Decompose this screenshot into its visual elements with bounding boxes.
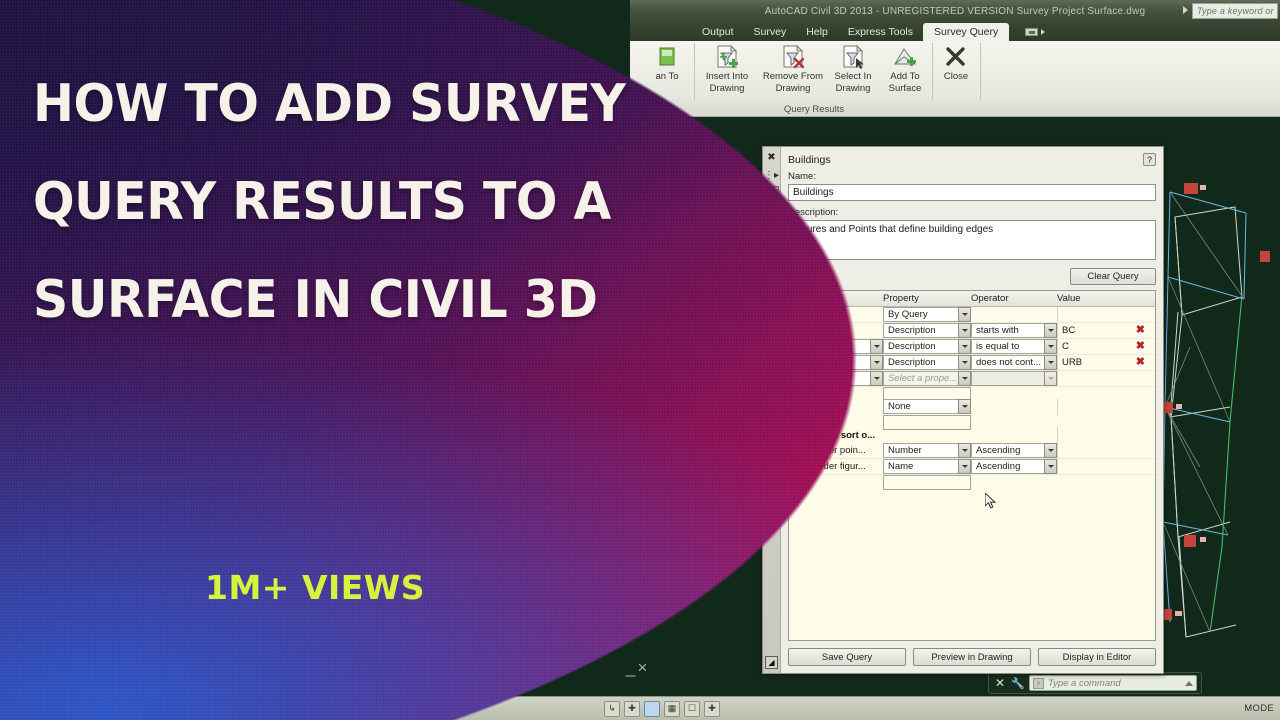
condition-property-dropdown-icon[interactable] — [958, 371, 971, 386]
description-textarea[interactable]: Figures and Points that define building … — [788, 220, 1156, 260]
condition-property-dropdown-icon[interactable] — [958, 339, 971, 354]
operator-cell-empty — [971, 427, 1057, 443]
condition-operator-disabled — [971, 371, 1044, 386]
ribbon-button-clipped[interactable]: an To — [640, 44, 694, 82]
value-cell-empty — [1057, 427, 1155, 443]
ribbon-minimize-group[interactable] — [1025, 28, 1045, 36]
insert-property-icon[interactable] — [788, 267, 808, 285]
row-label-default-sort: Default sort o... — [806, 430, 875, 441]
condition-logic-select[interactable]: AND — [821, 355, 870, 370]
palette-auto-hide-icon[interactable]: ⋮▸ — [765, 168, 779, 182]
tab-survey[interactable]: Survey — [744, 23, 797, 42]
operator-cell[interactable]: is equal to — [971, 339, 1057, 354]
select-in-drawing-button[interactable]: Select In Drawing — [826, 44, 880, 94]
preview-in-drawing-button[interactable]: Preview in Drawing — [913, 648, 1031, 666]
palette-properties-icon[interactable]: ▤ — [765, 186, 779, 200]
grid-spacer — [789, 475, 1155, 487]
value-cell[interactable]: BC ✖ — [1057, 323, 1155, 338]
expander-icon-default-sort[interactable]: - — [793, 431, 802, 440]
operator-cell — [971, 371, 1057, 386]
add-to-surface-label-1: Add To — [890, 71, 919, 82]
condition-property-dropdown-icon[interactable] — [958, 355, 971, 370]
row-label-cell: Figures — [789, 399, 883, 415]
ribbon-panel-query-results: an To gate Insert Into — [630, 41, 1280, 117]
condition-operator-dropdown-icon-disabled — [1044, 371, 1057, 386]
row-logic-cell[interactable]: AND — [789, 355, 883, 370]
row-label-order-points: Order poin... — [789, 445, 866, 456]
value-cell-empty — [1057, 459, 1155, 474]
clipped-tool-icon — [653, 44, 681, 70]
close-query-label: Close — [944, 71, 968, 82]
insert-into-drawing-icon — [713, 44, 741, 70]
table-row[interactable]: AND Select a prope... — [789, 371, 1155, 387]
row-label-order-figures: Order figur... — [789, 461, 866, 472]
delete-row-icon[interactable]: ✖ — [1136, 341, 1145, 352]
row-label-points: Points — [806, 309, 835, 320]
condition-logic-dropdown-icon[interactable] — [870, 355, 883, 370]
tab-survey-query[interactable]: Survey Query — [923, 23, 1009, 43]
add-to-surface-button[interactable]: Add To Surface — [878, 44, 932, 94]
clear-query-button[interactable]: Clear Query — [1070, 268, 1156, 285]
property-cell[interactable]: None — [883, 399, 971, 415]
value-cell[interactable]: C ✖ — [1057, 339, 1155, 354]
table-row[interactable]: Description starts with BC ✖ — [789, 323, 1155, 339]
save-query-button[interactable]: Save Query — [788, 648, 906, 666]
display-in-editor-button[interactable]: Display in Editor — [1038, 648, 1156, 666]
keyword-search-input[interactable]: Type a keyword or — [1192, 3, 1278, 19]
description-field-label: Description: — [788, 207, 1156, 218]
select-in-drawing-label-1: Select In — [835, 71, 872, 82]
palette-header: Buildings ? — [788, 153, 1156, 166]
close-x-icon — [942, 44, 970, 70]
tab-express-tools[interactable]: Express Tools — [838, 23, 923, 42]
command-expand-caret-icon[interactable] — [1185, 681, 1193, 686]
remove-from-drawing-label-1: Remove From — [763, 71, 823, 82]
query-toolbar: Clear Query — [788, 266, 1156, 286]
insert-into-drawing-button[interactable]: Insert Into Drawing — [700, 44, 754, 94]
property-cell[interactable]: Select a prope... — [883, 371, 971, 386]
table-row[interactable]: Order poin... Number Ascending — [789, 443, 1155, 459]
ribbon-panel-clipped-label: gate — [636, 104, 696, 115]
property-cell[interactable]: Description — [883, 323, 971, 338]
palette-footer: Save Query Preview in Drawing Display in… — [788, 648, 1156, 666]
property-cell[interactable]: Name — [883, 459, 971, 474]
ribbon-button-clipped-label: an To — [655, 71, 678, 82]
table-row[interactable]: - Default sort o... — [789, 427, 1155, 443]
command-wrench-icon[interactable]: 🔧 — [1011, 677, 1025, 690]
condition-logic-dropdown-icon[interactable] — [870, 339, 883, 354]
insert-into-drawing-label-1: Insert Into — [706, 71, 748, 82]
condition-property-select[interactable]: Description — [883, 355, 958, 370]
column-header-value: Value — [1057, 291, 1155, 306]
ribbon-minimize-icon[interactable] — [1025, 28, 1038, 36]
select-in-drawing-icon — [839, 44, 867, 70]
command-input-placeholder: Type a command — [1048, 678, 1121, 689]
points-mode-dropdown-icon[interactable] — [958, 307, 971, 322]
condition-value-input[interactable]: C — [1062, 341, 1069, 352]
value-cell-empty — [1057, 371, 1155, 386]
tab-output[interactable]: Output — [692, 23, 744, 42]
order-points-field-dropdown-icon[interactable] — [958, 443, 971, 458]
status-snap-icon[interactable]: ↳ — [604, 701, 620, 717]
table-row[interactable]: AND Description does not cont... — [789, 355, 1155, 371]
operator-cell-empty — [971, 399, 1057, 415]
property-cell[interactable]: Description — [883, 339, 971, 354]
insert-group-icon[interactable] — [814, 267, 834, 285]
condition-property-dropdown-icon[interactable] — [958, 323, 971, 338]
query-grid-header: Property Operator Value — [789, 291, 1155, 307]
property-cell[interactable]: By Query — [883, 307, 971, 322]
insert-into-drawing-label-2: Drawing — [710, 83, 745, 94]
figures-mode-select[interactable]: None — [883, 399, 958, 414]
expander-icon-points[interactable]: - — [793, 310, 802, 319]
ribbon-tab-strip: Output Survey Help Express Tools Survey … — [630, 22, 1280, 41]
condition-operator-select[interactable]: starts with — [971, 323, 1044, 338]
property-cell[interactable]: Description — [883, 355, 971, 370]
add-to-surface-label-2: Surface — [889, 83, 922, 94]
order-points-direction-dropdown-icon[interactable] — [1044, 443, 1057, 458]
status-mode-label: MODE — [1244, 703, 1280, 714]
remove-from-drawing-button[interactable]: Remove From Drawing — [762, 44, 824, 94]
condition-operator-dropdown-icon[interactable] — [1044, 339, 1057, 354]
operator-cell[interactable]: does not cont... — [971, 355, 1057, 370]
command-prompt-badge-icon: › — [1033, 678, 1044, 689]
status-polar-icon[interactable]: ▦ — [664, 701, 680, 717]
tab-help[interactable]: Help — [796, 23, 838, 42]
order-points-direction-select[interactable]: Ascending — [971, 443, 1044, 458]
condition-property-select[interactable]: Description — [883, 323, 958, 338]
order-points-field-select[interactable]: Number — [883, 443, 958, 458]
command-line[interactable]: ✕ 🔧 › Type a command — [988, 672, 1202, 694]
status-osnap-icon[interactable]: ☐ — [684, 701, 700, 717]
palette-title: Buildings — [788, 154, 831, 166]
row-logic-cell[interactable]: AND — [789, 371, 883, 386]
close-query-button[interactable]: Close — [934, 44, 978, 82]
table-row[interactable]: Figures None — [789, 399, 1155, 415]
condition-operator-dropdown-icon[interactable] — [1044, 355, 1057, 370]
remove-from-drawing-icon — [779, 44, 807, 70]
row-label-figures: Figures — [813, 402, 847, 413]
order-figures-direction-dropdown-icon[interactable] — [1044, 459, 1057, 474]
condition-value-input[interactable]: BC — [1062, 325, 1075, 336]
table-row[interactable]: Order figur... Name Ascending — [789, 459, 1155, 475]
operator-cell[interactable]: Ascending — [971, 443, 1057, 458]
condition-operator-select[interactable]: does not cont... — [971, 355, 1044, 370]
condition-logic-select[interactable]: AND — [821, 371, 870, 386]
add-to-surface-icon — [891, 44, 919, 70]
operator-cell-empty — [971, 307, 1057, 322]
points-mode-select[interactable]: By Query — [883, 307, 958, 322]
ribbon-panel-label-query-results: Query Results — [696, 104, 932, 115]
status-ortho-icon[interactable] — [644, 701, 660, 717]
palette-vertical-title: Survey Query Builder — [766, 250, 777, 351]
condition-operator-select[interactable]: is equal to — [971, 339, 1044, 354]
status-bar: ↳ ✚ ▦ ☐ ✚ MODE — [0, 696, 1280, 720]
ribbon-minimize-caret-icon[interactable] — [1041, 29, 1045, 35]
command-close-icon[interactable]: ✕ — [993, 676, 1007, 690]
screenshot-root: ireframe] — [0, 0, 1280, 720]
table-row[interactable]: - Points By Query — [789, 307, 1155, 323]
value-cell-empty — [1057, 307, 1155, 322]
order-figures-field-select[interactable]: Name — [883, 459, 958, 474]
order-figures-direction-select[interactable]: Ascending — [971, 459, 1044, 474]
row-label-cell: - Points — [789, 307, 883, 322]
condition-value-input[interactable]: URB — [1062, 357, 1082, 368]
column-header-property: Property — [883, 291, 971, 306]
status-grid-icon[interactable]: ✚ — [624, 701, 640, 717]
value-cell-empty — [1057, 443, 1155, 458]
condition-logic-dropdown-icon[interactable] — [870, 371, 883, 386]
app-title-bar: AutoCAD Civil 3D 2013 - UNREGISTERED VER… — [630, 0, 1280, 22]
figures-mode-dropdown-icon[interactable] — [958, 399, 971, 414]
operator-cell[interactable]: Ascending — [971, 459, 1057, 474]
column-header-blank — [789, 291, 883, 306]
command-input[interactable]: › Type a command — [1029, 675, 1197, 691]
status-otrack-icon[interactable]: ✚ — [704, 701, 720, 717]
grid-spacer — [789, 415, 1155, 427]
delete-row-icon[interactable]: ✖ — [1136, 357, 1145, 368]
row-label-cell: Order figur... — [789, 459, 883, 474]
order-figures-field-dropdown-icon[interactable] — [958, 459, 971, 474]
help-button[interactable]: ? — [1143, 153, 1156, 166]
table-row[interactable]: OR Description is equal to — [789, 339, 1155, 355]
condition-property-select[interactable]: Description — [883, 339, 958, 354]
app-title: AutoCAD Civil 3D 2013 - UNREGISTERED VER… — [765, 6, 1145, 17]
name-field-label: Name: — [788, 171, 1156, 182]
palette-menu-icon[interactable]: ◢ — [765, 656, 778, 669]
row-logic-cell[interactable]: OR — [789, 339, 883, 354]
name-input[interactable]: Buildings — [788, 184, 1156, 201]
viewport-close-icon[interactable]: _× — [626, 658, 649, 678]
select-in-drawing-label-2: Drawing — [836, 83, 871, 94]
row-label-cell: - Default sort o... — [789, 427, 883, 443]
palette-gutter: ✖ ⋮▸ ▤ Survey Query Builder ◢ — [763, 147, 781, 673]
query-grid: Property Operator Value - Points By Quer… — [788, 290, 1156, 641]
query-grid-body: - Points By Query — [789, 307, 1155, 640]
condition-operator-dropdown-icon[interactable] — [1044, 323, 1057, 338]
value-cell-empty — [1057, 399, 1155, 415]
palette-body: Buildings ? Name: Buildings Description:… — [781, 147, 1163, 673]
value-cell[interactable]: URB ✖ — [1057, 355, 1155, 370]
row-logic-cell — [789, 323, 883, 338]
row-label-cell: Order poin... — [789, 443, 883, 458]
property-cell-empty — [883, 427, 971, 443]
search-dropdown-caret-icon[interactable] — [1183, 6, 1188, 14]
condition-logic-select[interactable]: OR — [821, 339, 870, 354]
property-cell[interactable]: Number — [883, 443, 971, 458]
condition-property-placeholder[interactable]: Select a prope... — [883, 371, 958, 386]
remove-from-drawing-label-2: Drawing — [776, 83, 811, 94]
operator-cell[interactable]: starts with — [971, 323, 1057, 338]
grid-spacer — [789, 387, 1155, 399]
palette-close-icon[interactable]: ✖ — [765, 150, 779, 164]
survey-query-builder-palette: ✖ ⋮▸ ▤ Survey Query Builder ◢ Buildings … — [762, 146, 1164, 674]
column-header-operator: Operator — [971, 291, 1057, 306]
delete-row-icon[interactable]: ✖ — [1136, 325, 1145, 336]
